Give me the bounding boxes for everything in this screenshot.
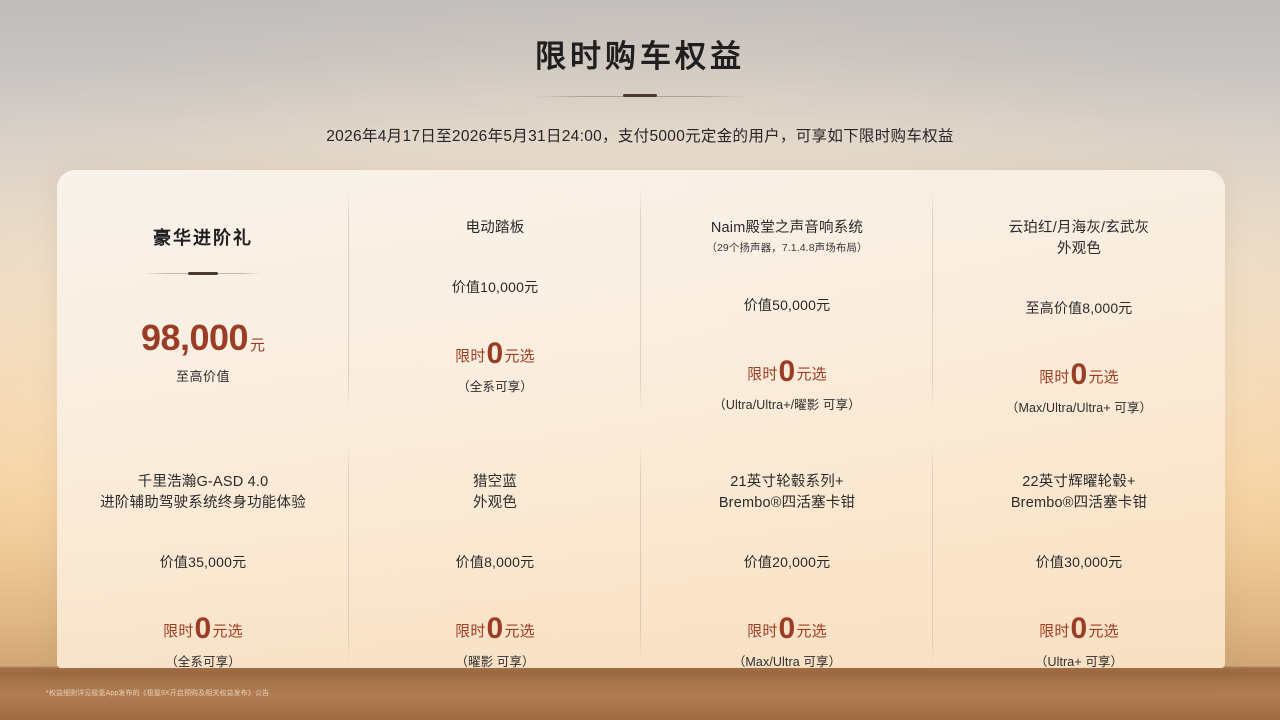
- benefit-cell-7[interactable]: 22英寸辉曜轮毂+Brembo®四活塞卡钳 价值30,000元 限时 0 元选 …: [933, 426, 1225, 668]
- page-title: 限时购车权益: [0, 38, 1280, 75]
- benefit-title: 22英寸辉曜轮毂+Brembo®四活塞卡钳: [1011, 472, 1147, 514]
- benefit-title: 21英寸轮毂系列+Brembo®四活塞卡钳: [719, 472, 855, 514]
- slide-header: 限时购车权益 2026年4月17日至2026年5月31日24:00，支付5000…: [0, 38, 1280, 146]
- benefit-cell-3[interactable]: 云珀红/月海灰/玄武灰外观色 至高价值8,000元 限时 0 元选 （Max/U…: [933, 170, 1225, 426]
- benefit-cell-hero[interactable]: 豪华进阶礼 98,000 元 至高价值: [57, 170, 349, 426]
- offer-zero: 0: [779, 357, 796, 387]
- benefit-value: 至高价值8,000元: [1025, 298, 1132, 318]
- offer-suffix: 元选: [504, 345, 534, 366]
- benefit-cell-5[interactable]: 猎空蓝外观色 价值8,000元 限时 0 元选 （曜影 可享）: [349, 426, 641, 668]
- benefit-note: （Max/Ultra 可享）: [733, 651, 841, 668]
- offer-zero: 0: [487, 339, 504, 369]
- offer-prefix: 限时: [1039, 366, 1069, 387]
- offer-zero: 0: [487, 614, 504, 644]
- benefit-cell-6[interactable]: 21英寸轮毂系列+Brembo®四活塞卡钳 价值20,000元 限时 0 元选 …: [641, 426, 933, 668]
- benefit-offer: 限时 0 元选: [455, 612, 535, 642]
- presentation-slide: 限时购车权益 2026年4月17日至2026年5月31日24:00，支付5000…: [0, 0, 1280, 720]
- benefit-note: （Ultra+ 可享）: [1035, 651, 1123, 668]
- title-divider-accent: [623, 94, 657, 97]
- benefit-note: （Max/Ultra/Ultra+ 可享）: [1006, 397, 1152, 416]
- benefit-cell-2[interactable]: Naim殿堂之声音响系统 （29个扬声器，7.1.4.8声场布局） 价值50,0…: [641, 170, 933, 426]
- hero-divider: [143, 270, 263, 278]
- benefit-value: 价值20,000元: [744, 552, 831, 572]
- benefit-offer: 限时 0 元选: [747, 612, 827, 642]
- benefit-title: 云珀红/月海灰/玄武灰外观色: [1009, 218, 1150, 260]
- benefit-offer: 限时 0 元选: [163, 612, 243, 642]
- benefit-title: 电动踏板: [466, 218, 525, 239]
- benefit-note: （Ultra/Ultra+/曜影 可享）: [713, 394, 861, 413]
- offer-prefix: 限时: [455, 620, 485, 641]
- benefit-offer: 限时 0 元选: [1039, 612, 1119, 642]
- benefit-offer: 限时 0 元选: [747, 355, 827, 385]
- benefits-grid: 豪华进阶礼 98,000 元 至高价值 电动踏板 价值10,000元 限时: [57, 170, 1225, 668]
- title-divider: [535, 92, 745, 102]
- benefit-note: （全系可享）: [165, 651, 241, 668]
- benefit-value: 价值8,000元: [456, 552, 535, 572]
- offer-zero: 0: [195, 614, 212, 644]
- benefit-offer: 限时 0 元选: [1039, 358, 1119, 388]
- offer-suffix: 元选: [504, 620, 534, 641]
- offer-suffix: 元选: [1088, 620, 1118, 641]
- benefit-value: 价值10,000元: [452, 277, 539, 297]
- benefit-subtitle: （29个扬声器，7.1.4.8声场布局）: [706, 241, 867, 257]
- benefit-title: 猎空蓝外观色: [473, 472, 517, 514]
- offer-zero: 0: [1071, 614, 1088, 644]
- benefit-title: 千里浩瀚G-ASD 4.0进阶辅助驾驶系统终身功能体验: [100, 472, 306, 514]
- hero-divider-accent: [188, 272, 218, 275]
- benefit-value: 价值30,000元: [1036, 552, 1123, 572]
- hero-title: 豪华进阶礼: [153, 224, 253, 250]
- offer-suffix: 元选: [796, 620, 826, 641]
- offer-zero: 0: [779, 614, 796, 644]
- offer-prefix: 限时: [1039, 620, 1069, 641]
- hero-caption: 至高价值: [176, 366, 230, 385]
- offer-zero: 0: [1071, 360, 1088, 390]
- offer-prefix: 限时: [455, 345, 485, 366]
- offer-suffix: 元选: [796, 363, 826, 384]
- benefit-cell-4[interactable]: 千里浩瀚G-ASD 4.0进阶辅助驾驶系统终身功能体验 价值35,000元 限时…: [57, 426, 349, 668]
- benefits-card: 豪华进阶礼 98,000 元 至高价值 电动踏板 价值10,000元 限时: [57, 170, 1225, 668]
- benefit-note: （全系可享）: [457, 376, 533, 395]
- offer-suffix: 元选: [212, 620, 242, 641]
- benefit-cell-1[interactable]: 电动踏板 价值10,000元 限时 0 元选 （全系可享）: [349, 170, 641, 426]
- page-subtitle: 2026年4月17日至2026年5月31日24:00，支付5000元定金的用户，…: [0, 124, 1280, 146]
- offer-prefix: 限时: [747, 620, 777, 641]
- hero-amount-unit: 元: [250, 334, 265, 355]
- benefit-offer: 限时 0 元选: [455, 337, 535, 367]
- hero-amount-number: 98,000: [141, 320, 248, 356]
- benefit-value: 价值35,000元: [160, 552, 247, 572]
- offer-prefix: 限时: [163, 620, 193, 641]
- footnote-disclaimer: *权益细则详见极氪App发布的《极氪9X开启预购及相关权益发布》公告: [46, 688, 269, 698]
- offer-suffix: 元选: [1088, 366, 1118, 387]
- hero-amount: 98,000 元: [141, 320, 265, 356]
- offer-prefix: 限时: [747, 363, 777, 384]
- benefit-title: Naim殿堂之声音响系统: [711, 218, 863, 239]
- benefit-note: （曜影 可享）: [455, 651, 534, 668]
- benefit-value: 价值50,000元: [744, 295, 831, 315]
